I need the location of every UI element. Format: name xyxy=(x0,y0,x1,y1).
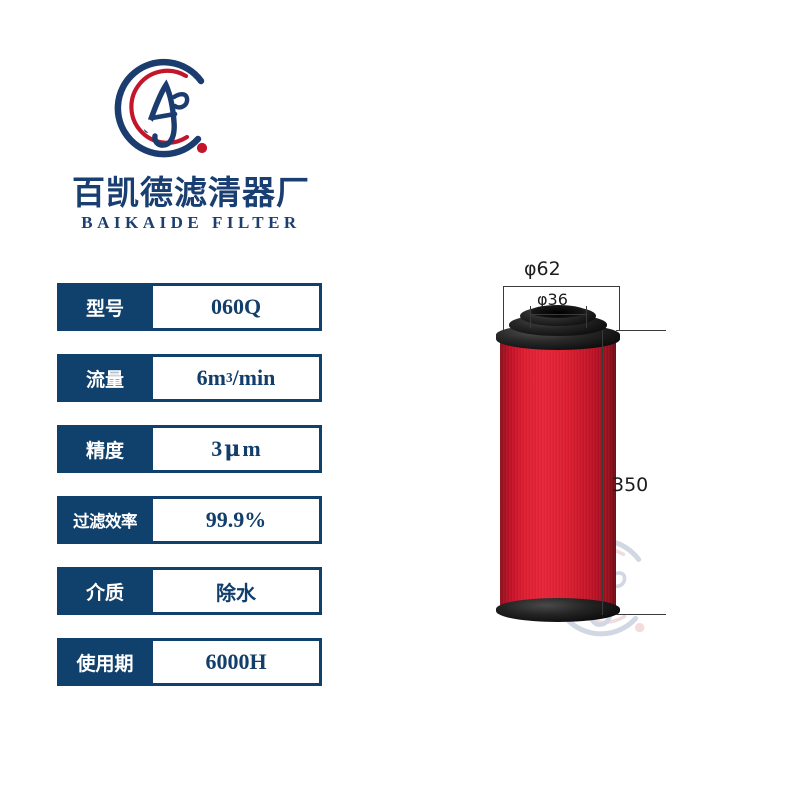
spec-label-service-life: 使用期 xyxy=(57,638,153,686)
spec-label-model: 型号 xyxy=(57,283,153,331)
spec-label-precision: 精度 xyxy=(57,425,153,473)
dim-label-inner-diameter: φ36 xyxy=(537,292,568,308)
table-row: 使用期 6000H xyxy=(57,638,322,686)
spec-value-precision: 3μm xyxy=(153,425,322,473)
dim-label-length: 350 xyxy=(612,476,648,495)
specification-table: 型号 060Q 流量 6m3/min 精度 3μm 过滤效率 99.9% 介质 … xyxy=(57,283,322,709)
micron-mu-symbol: μ xyxy=(222,436,242,462)
spec-value-flow: 6m3/min xyxy=(153,354,322,402)
product-drawing: φ62 φ36 350 xyxy=(420,250,750,670)
dim-line-length xyxy=(602,330,603,615)
dim-ext-line-inner-right xyxy=(586,306,587,328)
brand-name-cn: 百凯德滤清器厂 xyxy=(46,176,336,209)
flow-suffix: /min xyxy=(233,365,276,391)
brand-logo-block: 百凯德滤清器厂 BAIKAIDE FILTER xyxy=(40,52,340,242)
micron-number: 3 xyxy=(211,436,222,462)
dim-leader-line-bottom xyxy=(616,614,666,615)
brand-name-en: BAIKAIDE FILTER xyxy=(46,214,336,231)
table-row: 精度 3μm xyxy=(57,425,322,473)
dim-label-outer-diameter: φ62 xyxy=(524,260,561,279)
dim-ext-line-outer-right xyxy=(619,286,620,330)
dim-leader-line-top xyxy=(616,330,666,331)
dim-ext-line-outer-left xyxy=(503,286,504,330)
spec-value-model: 060Q xyxy=(153,283,322,331)
table-row: 型号 060Q xyxy=(57,283,322,331)
micron-unit: m xyxy=(242,436,260,462)
spec-label-flow: 流量 xyxy=(57,354,153,402)
spec-value-medium: 除水 xyxy=(153,567,322,615)
baikaide-swirl-logo-icon xyxy=(102,52,222,172)
spec-value-service-life: 6000H xyxy=(153,638,322,686)
spec-value-filtration-efficiency: 99.9% xyxy=(153,496,322,544)
dim-line-inner-diameter xyxy=(530,314,587,315)
filter-element-body xyxy=(500,338,616,615)
dim-ext-line-inner-left xyxy=(530,306,531,328)
table-row: 流量 6m3/min xyxy=(57,354,322,402)
flow-prefix: 6m xyxy=(197,365,226,391)
spec-label-filtration-efficiency: 过滤效率 xyxy=(57,496,153,544)
dim-line-outer-diameter xyxy=(503,286,620,287)
table-row: 过滤效率 99.9% xyxy=(57,496,322,544)
spec-label-medium: 介质 xyxy=(57,567,153,615)
flow-exponent: 3 xyxy=(226,370,233,386)
table-row: 介质 除水 xyxy=(57,567,322,615)
